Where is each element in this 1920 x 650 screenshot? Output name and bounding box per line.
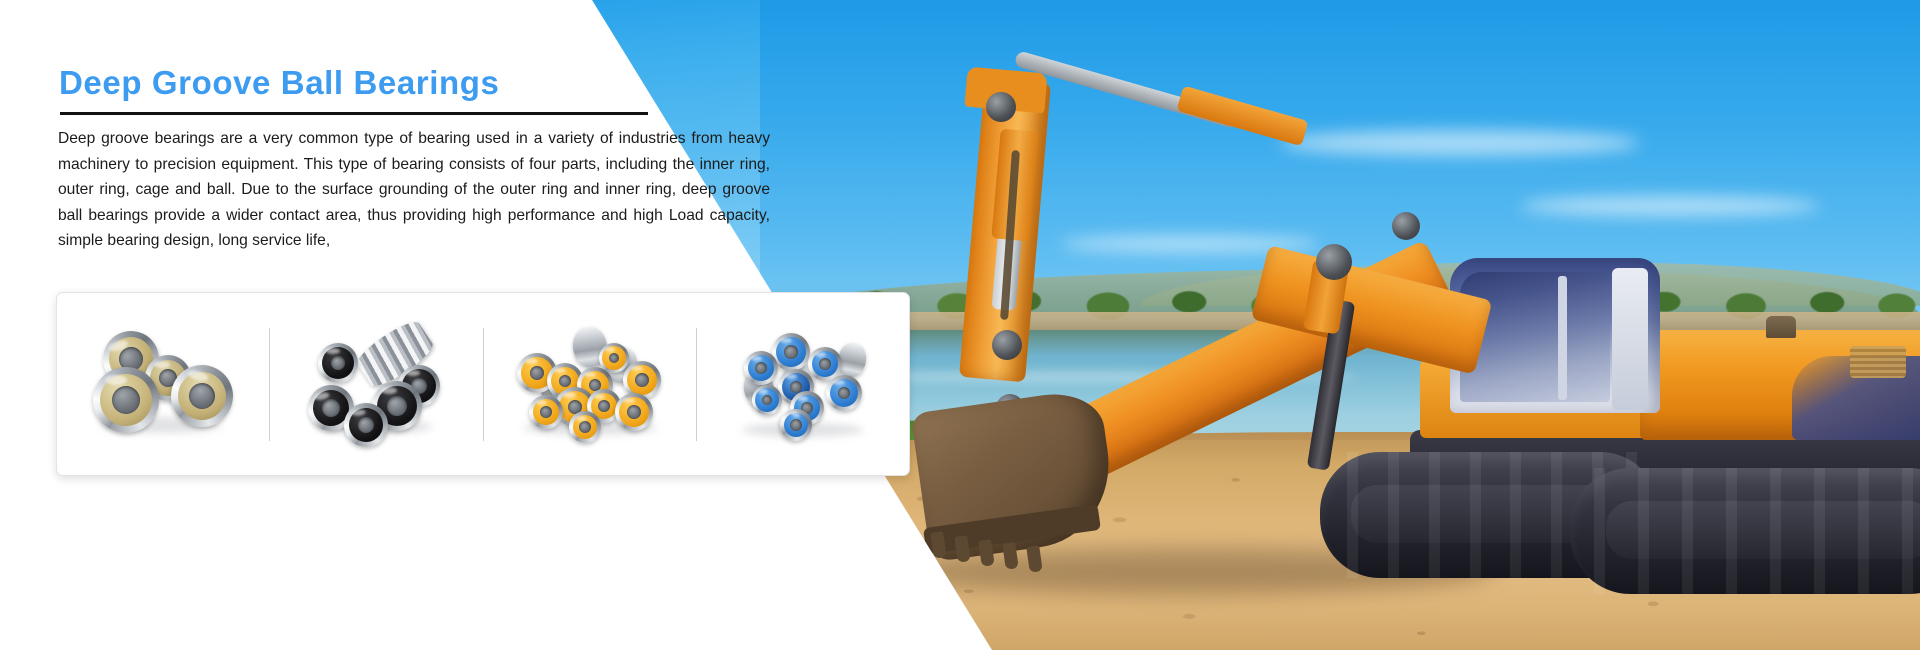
description-paragraph: Deep groove bearings are a very common t… — [58, 126, 770, 254]
pivot-pin — [1316, 244, 1352, 280]
cab-side-panel — [1612, 268, 1648, 410]
bearing — [529, 395, 563, 429]
bearing — [752, 385, 782, 415]
content-side: Deep Groove Ball Bearings Deep groove be… — [0, 0, 990, 650]
pivot-pin — [986, 92, 1016, 122]
product-banner: Deep Groove Ball Bearings Deep groove be… — [0, 0, 1920, 650]
gallery-panel-orange-sealed[interactable] — [484, 293, 696, 475]
gallery-panel-black-sealed[interactable] — [270, 293, 482, 475]
bearing — [569, 411, 601, 443]
pivot-pin — [1392, 212, 1420, 240]
engine-vent — [1850, 346, 1906, 378]
page-title: Deep Groove Ball Bearings — [59, 64, 499, 102]
cab-pillar — [1558, 276, 1567, 400]
bearing — [826, 375, 862, 411]
bearing — [615, 393, 653, 431]
gallery-panel-shielded-chrome[interactable] — [57, 293, 269, 475]
gallery-panel-blue-sealed[interactable] — [697, 293, 909, 475]
bearing — [93, 367, 159, 433]
bearing — [599, 343, 629, 373]
bearing — [318, 343, 358, 383]
product-image-gallery — [56, 292, 910, 476]
title-underline-rule — [60, 112, 648, 115]
bucket-tooth — [1026, 545, 1042, 573]
exhaust-stack — [1766, 316, 1796, 338]
pivot-pin — [992, 330, 1022, 360]
boom-cylinder-barrel — [1176, 86, 1308, 147]
bearing — [744, 351, 778, 385]
crawler-track-right — [1570, 468, 1920, 594]
